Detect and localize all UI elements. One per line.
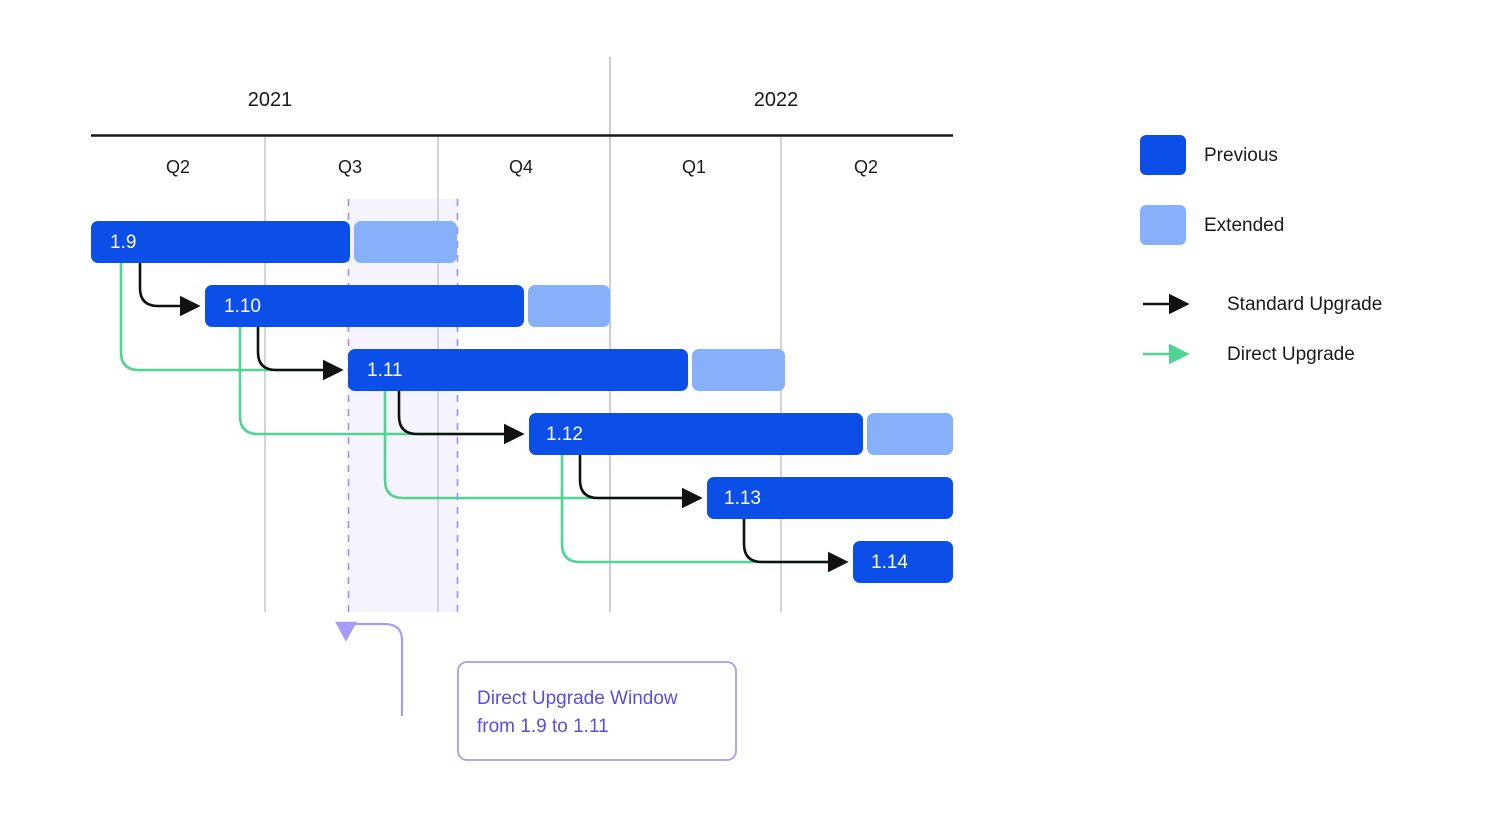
callout-pointer — [346, 624, 402, 716]
year-label-2022: 2022 — [754, 89, 799, 111]
legend-item-previous: Previous — [1140, 135, 1278, 175]
callout-line-1: Direct Upgrade Window — [477, 688, 678, 709]
legend-swatch-previous — [1140, 135, 1186, 175]
bar-label-1-9: 1.9 — [110, 232, 136, 253]
diagram-root: 2021 2022 Q2 Q3 Q4 Q1 Q2 — [0, 0, 1505, 815]
legend-label-extended: Extended — [1204, 215, 1284, 236]
bar-extended-1-9[interactable] — [354, 221, 457, 263]
timeline-axis: 2021 2022 Q2 Q3 Q4 Q1 Q2 — [91, 57, 953, 612]
legend-label-previous: Previous — [1204, 145, 1278, 166]
bar-label-1-12: 1.12 — [546, 424, 583, 445]
legend-item-extended: Extended — [1140, 205, 1284, 245]
release-row-1-10[interactable]: 1.10 — [205, 285, 610, 327]
callout-line-2: from 1.9 to 1.11 — [477, 716, 609, 737]
legend-label-standard-upgrade: Standard Upgrade — [1227, 294, 1382, 315]
quarter-label-q1-2022: Q1 — [682, 157, 706, 177]
callout-pointer-path — [346, 624, 402, 716]
standard-upgrade-1-12-to-1-13 — [580, 455, 700, 498]
year-label-2021: 2021 — [248, 89, 293, 111]
bar-extended-1-11[interactable] — [692, 349, 785, 391]
legend-item-direct-upgrade: Direct Upgrade — [1143, 344, 1355, 365]
release-row-1-14[interactable]: 1.14 — [853, 541, 953, 583]
release-row-1-9[interactable]: 1.9 — [91, 221, 457, 263]
quarter-label-q2-2021: Q2 — [166, 157, 190, 177]
bar-label-1-11: 1.11 — [367, 360, 403, 381]
standard-upgrade-1-10-to-1-11 — [258, 327, 341, 370]
quarter-label-q4-2021: Q4 — [509, 157, 533, 177]
legend-swatch-extended — [1140, 205, 1186, 245]
bar-label-1-14: 1.14 — [871, 552, 908, 573]
standard-upgrade-1-13-to-1-14 — [744, 519, 846, 562]
release-timeline-diagram: 2021 2022 Q2 Q3 Q4 Q1 Q2 — [0, 0, 1505, 815]
bar-label-1-10: 1.10 — [224, 296, 261, 317]
callout-box: Direct Upgrade Window from 1.9 to 1.11 — [458, 662, 736, 760]
quarter-label-q3-2021: Q3 — [338, 157, 362, 177]
bar-extended-1-10[interactable] — [528, 285, 610, 327]
legend-label-direct-upgrade: Direct Upgrade — [1227, 344, 1355, 365]
bar-extended-1-12[interactable] — [867, 413, 953, 455]
legend: Previous Extended Standard Upgrade Direc… — [1140, 135, 1382, 365]
standard-upgrade-1-9-to-1-10 — [140, 263, 198, 306]
bar-label-1-13: 1.13 — [724, 488, 761, 509]
quarter-label-q2-2022: Q2 — [854, 157, 878, 177]
legend-item-standard-upgrade: Standard Upgrade — [1143, 294, 1382, 315]
release-row-1-12[interactable]: 1.12 — [529, 413, 953, 455]
callout-box-frame — [458, 662, 736, 760]
release-row-1-13[interactable]: 1.13 — [707, 477, 953, 519]
release-row-1-11[interactable]: 1.11 — [348, 349, 785, 391]
